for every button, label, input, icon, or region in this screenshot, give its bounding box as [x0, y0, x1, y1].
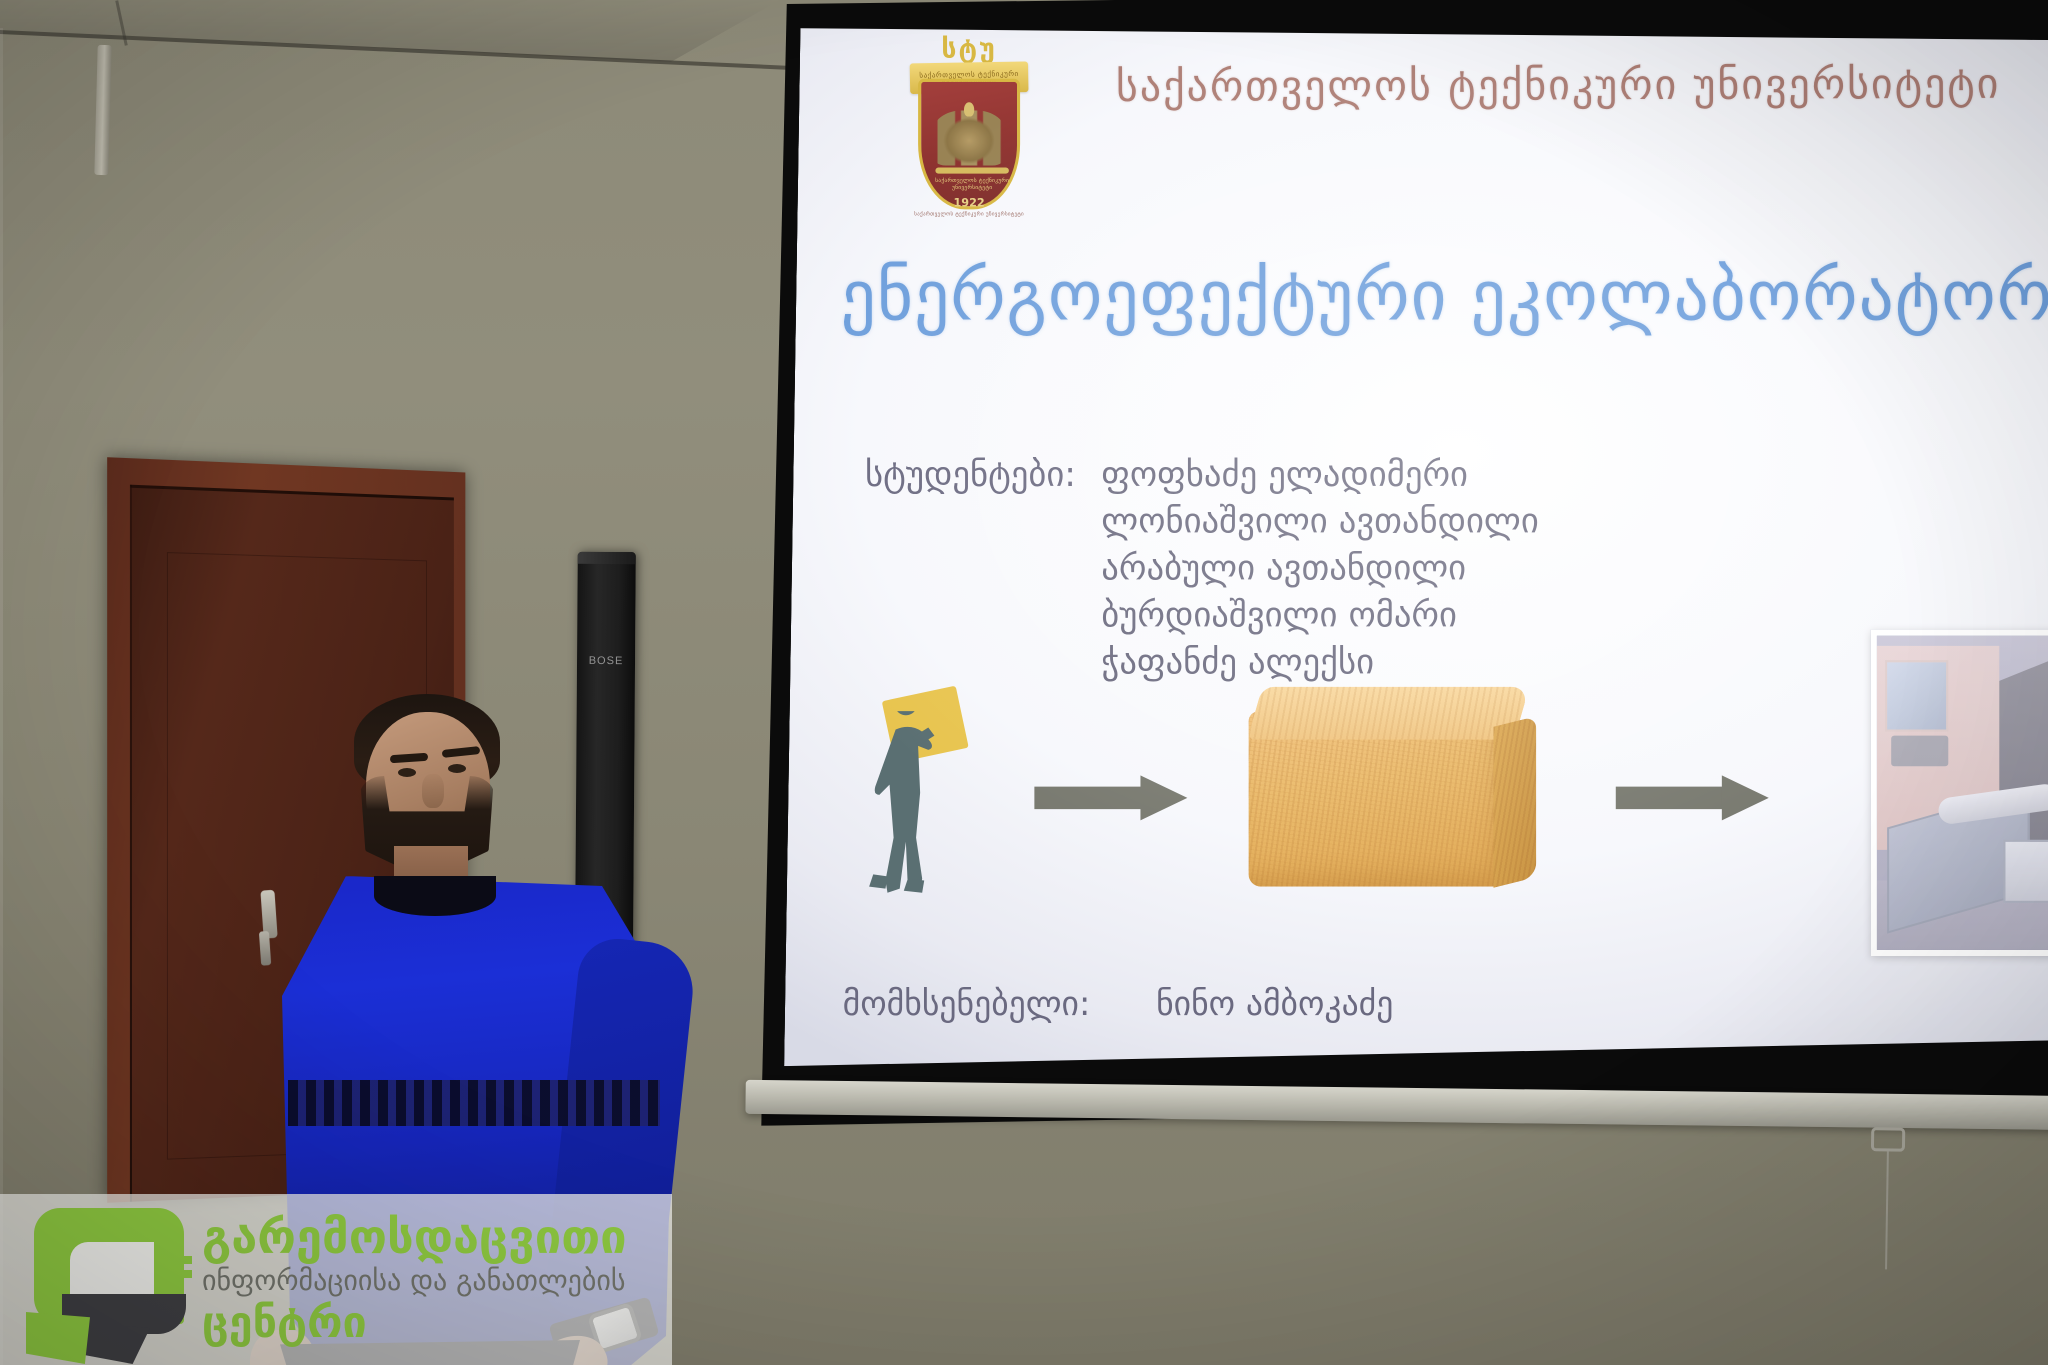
person-carrying-bale-icon — [865, 693, 963, 897]
student-name: ბურდიაშვილი ომარი — [1101, 592, 1539, 639]
person-collar — [374, 876, 496, 916]
bale-top-face — [1247, 687, 1529, 740]
slide-university-name: საქართველოს ტექნიკური უნივერსიტეტი — [1116, 59, 2048, 111]
students-list: ფოფხაძე ელადიმერი ლონიაშვილი ავთანდილი ა… — [1101, 451, 1539, 686]
emblem-shield-text: საქართველოს ტექნიკური უნივერსიტეტი — [927, 178, 1017, 192]
presenter-credit: მომხსენებელი: ნინო ამბოკაძე — [843, 984, 1761, 1024]
emblem-ground — [935, 168, 1008, 174]
slide-title: ენერგოეფექტური ეკოლაბორატორია — [841, 256, 2048, 337]
university-emblem-icon: სტუ საქართველოს ტექნიკური უნივერსიტეტი ს… — [908, 26, 1030, 220]
presenter-name: ნინო ამბოკაძე — [1156, 984, 1393, 1024]
arrow-right-icon — [1616, 776, 1769, 819]
logo-book-green — [26, 1312, 90, 1364]
speaker-brand-label: BOSE — [583, 655, 629, 667]
student-name: არაბული ავთანდილი — [1101, 545, 1539, 592]
speaker-top-cap — [578, 552, 636, 564]
screenshot-root: BOSE სტუ საქართველოს ტექნიკური უნივერსიტ… — [0, 0, 2048, 1365]
logo-bar-top — [156, 1256, 192, 1264]
photo-projection-haze — [1877, 636, 2048, 950]
presenter-label: მომხსენებელი: — [843, 984, 1091, 1024]
watermark-line-3: ცენტრი — [202, 1298, 662, 1348]
process-diagram — [841, 652, 2048, 927]
straw-bale-block — [1249, 685, 1555, 889]
emblem-eagle-icon — [932, 110, 1005, 165]
person-eye-left — [398, 768, 416, 777]
watermark-line-2: ინფორმაციისა და განათლების — [202, 1264, 662, 1298]
watermark-text: გარემოსდაცვითი ინფორმაციისა და განათლები… — [202, 1212, 662, 1348]
student-name: ლონიაშვილი ავთანდილი — [1101, 498, 1539, 545]
person-eye-right — [448, 764, 466, 773]
students-block: სტუდენტები: ფოფხაძე ელადიმერი ლონიაშვილი… — [865, 451, 1783, 686]
watermark-line-1: გარემოსდაცვითი — [202, 1212, 662, 1264]
logo-bar-bottom — [156, 1270, 192, 1278]
person-nose — [422, 774, 444, 808]
person-silhouette-icon — [865, 711, 963, 897]
emblem-year: 1922 — [921, 196, 1017, 209]
emblem-eagle-head — [964, 102, 974, 116]
logo-book-icon — [26, 1294, 194, 1365]
screen-pull-hook-icon[interactable] — [1871, 1127, 1905, 1152]
watermark-banner: გარემოსდაცვითი ინფორმაციისა და განათლები… — [0, 1194, 672, 1365]
student-name: ფოფხაძე ელადიმერი — [1101, 451, 1539, 498]
projected-slide: სტუ საქართველოს ტექნიკური უნივერსიტეტი ს… — [784, 20, 2048, 1096]
emblem-undertext: საქართველოს ტექნიკური უნივერსიტეტი — [908, 211, 1030, 217]
students-label: სტუდენტები: — [865, 454, 1076, 495]
person-sweater-stripe — [288, 1080, 660, 1126]
projection-screen: სტუ საქართველოს ტექნიკური უნივერსიტეტი ს… — [761, 0, 2048, 1168]
arrow-right-icon — [1034, 776, 1187, 819]
emblem-shield: საქართველოს ტექნიკური უნივერსიტეტი 1922 — [918, 79, 1020, 210]
wall-corner-highlight — [0, 28, 3, 1365]
eiec-logo-icon — [34, 1208, 184, 1356]
emblem-abbreviation: სტუ — [932, 34, 1005, 65]
eco-house-photo — [1871, 630, 2048, 956]
bale-side-face — [1493, 716, 1536, 888]
